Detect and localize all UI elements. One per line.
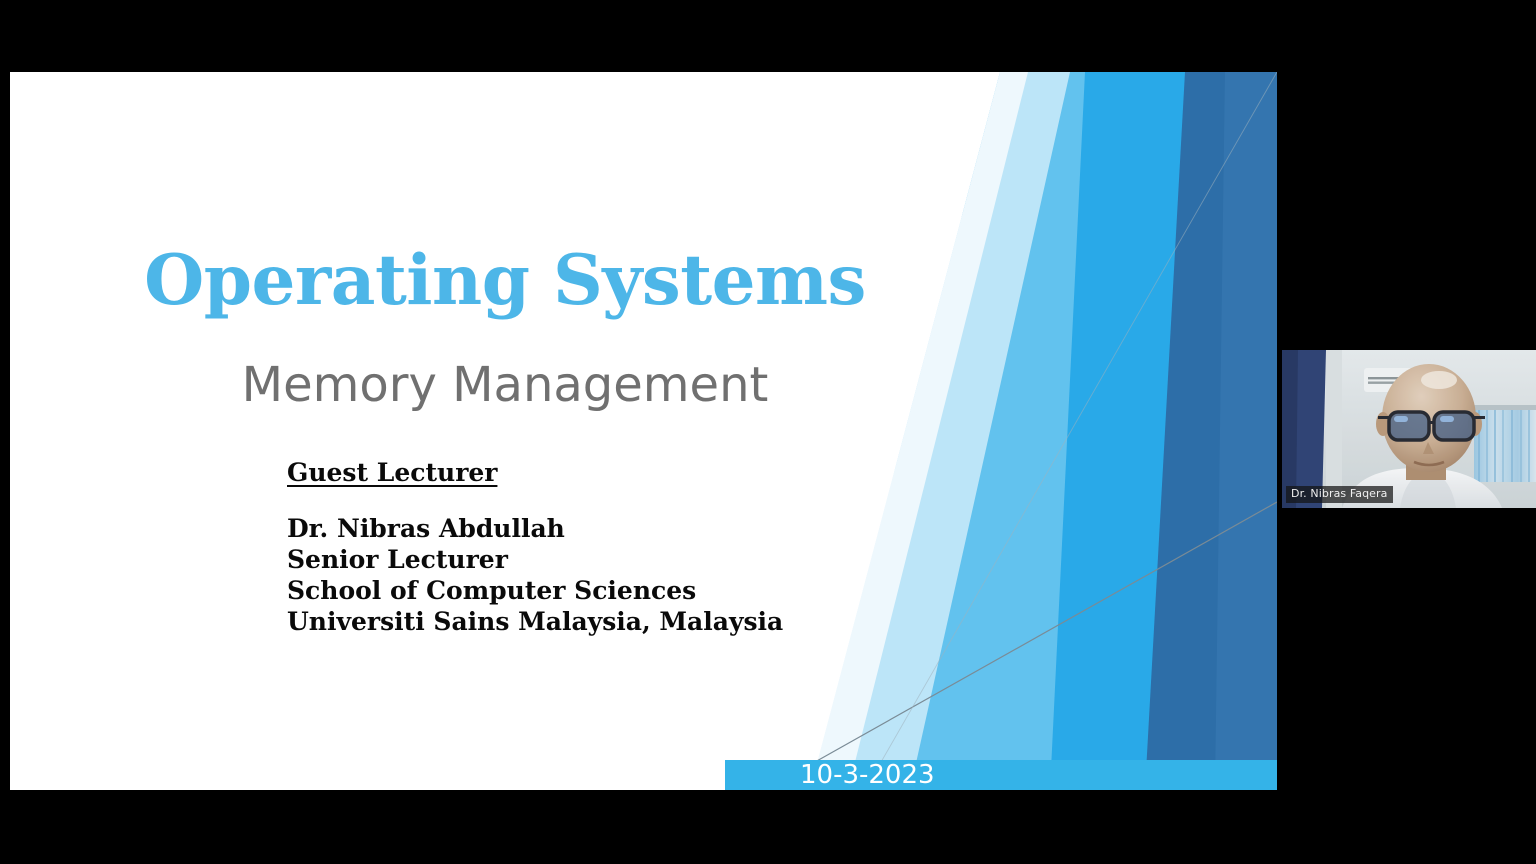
participant-name-label: Dr. Nibras Faqera <box>1286 486 1393 503</box>
right-deep-blue-highlight <box>1215 72 1277 790</box>
video-softening-overlay <box>1282 350 1536 508</box>
participant-video-tile[interactable]: Dr. Nibras Faqera <box>1282 350 1536 508</box>
screen-share-viewport: Operating Systems Memory Management Gues… <box>0 0 1536 864</box>
video-feed <box>1282 350 1536 508</box>
slide-background-graphic <box>10 72 1277 790</box>
shared-slide[interactable]: Operating Systems Memory Management Gues… <box>10 72 1277 790</box>
